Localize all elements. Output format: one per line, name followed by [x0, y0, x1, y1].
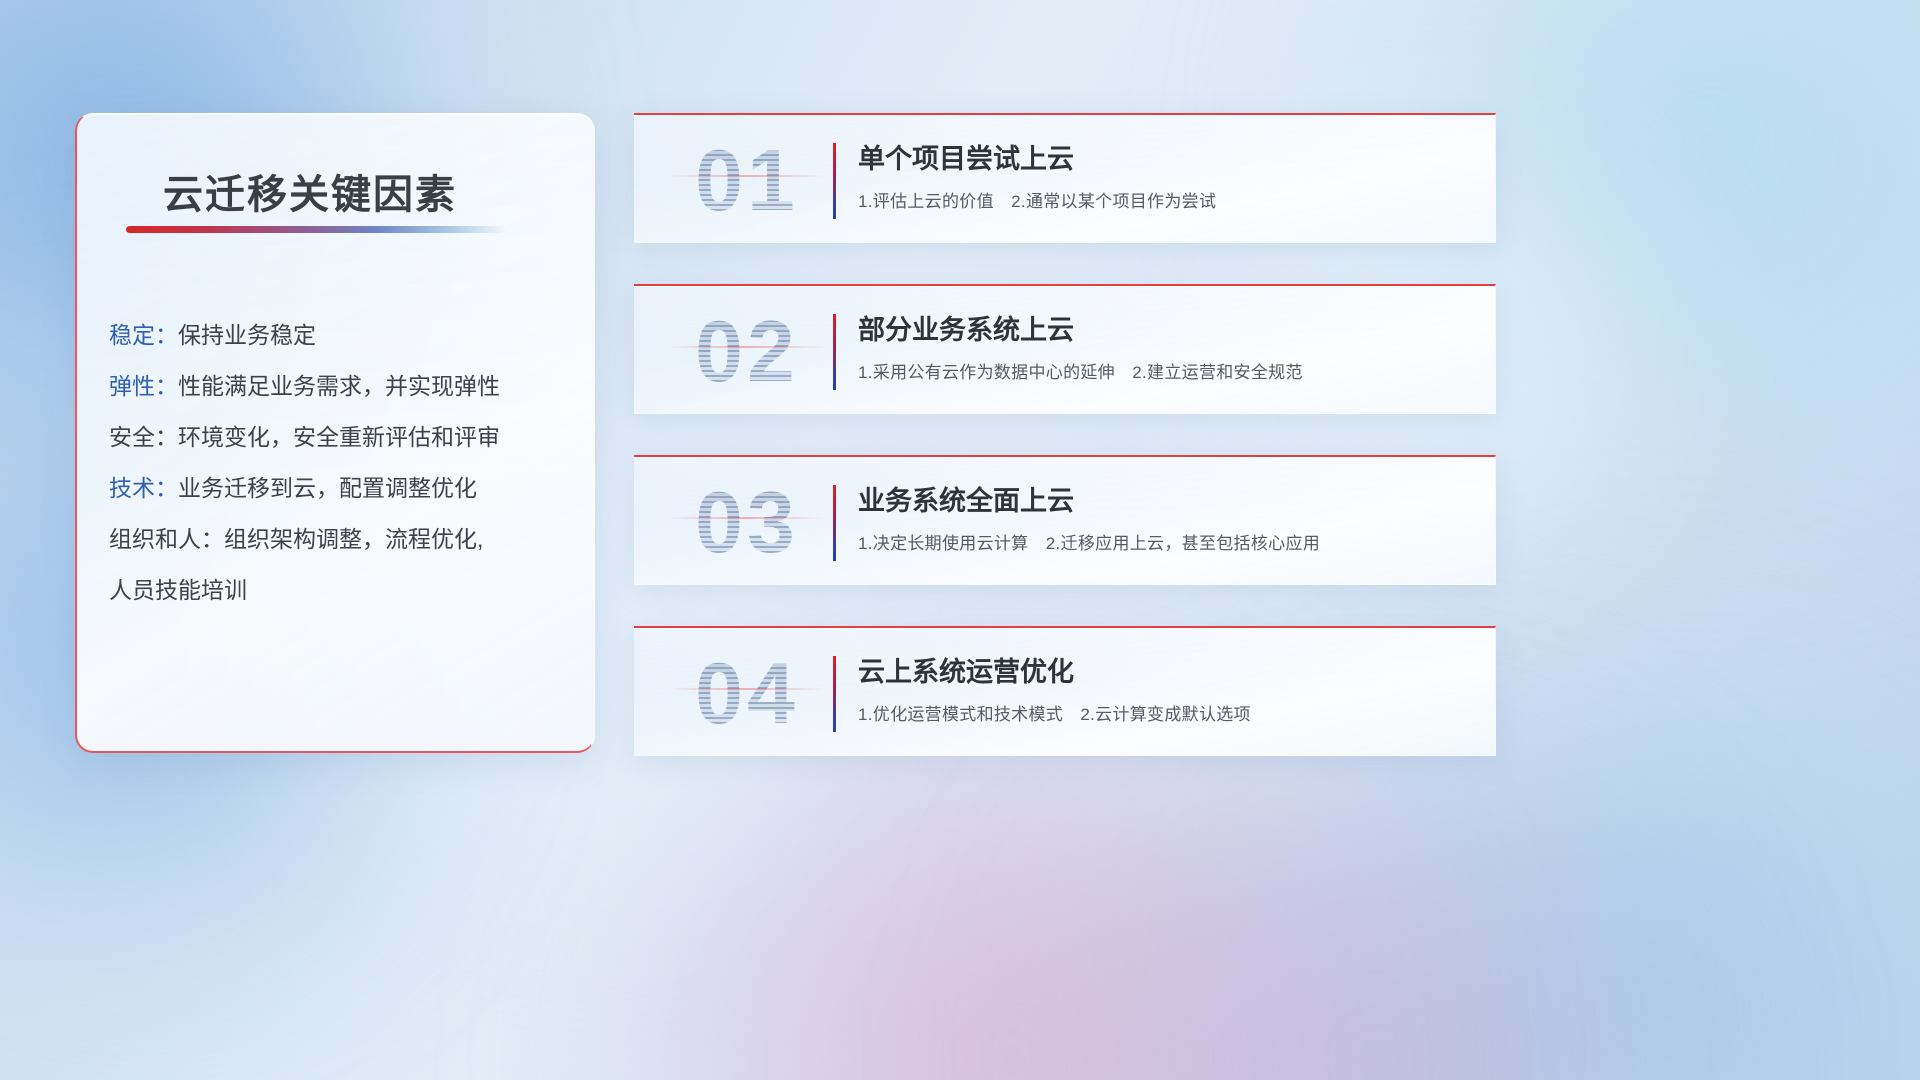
slide-stage: 云迁移关键因素 稳定：保持业务稳定 弹性：性能满足业务需求，并实现弹性 安全：环…: [0, 0, 1920, 1080]
factor-label: 安全：: [109, 424, 178, 450]
title-underline-rule: [126, 226, 506, 233]
page-title: 云迁移关键因素: [163, 162, 457, 220]
factor-item: 组织和人：组织架构调整，流程优化,: [109, 514, 576, 565]
stage-subtitle: 1.采用公有云作为数据中心的延伸 2.建立运营和安全规范: [858, 358, 1303, 383]
stage-subtitle: 1.决定长期使用云计算 2.迁移应用上云，甚至包括核心应用: [858, 529, 1320, 554]
factor-item: 稳定：保持业务稳定: [109, 310, 576, 361]
stage-number-02: 02: [662, 300, 832, 404]
factor-item: 技术：业务迁移到云，配置调整优化: [109, 463, 576, 514]
stage-divider-bar: [833, 656, 836, 732]
stage-title: 业务系统全面上云: [858, 479, 1074, 518]
factor-item: 弹性：性能满足业务需求，并实现弹性: [109, 361, 576, 412]
stage-number-03: 03: [662, 471, 832, 575]
factor-item: 安全：环境变化，安全重新评估和评审: [109, 412, 576, 463]
factor-text: 环境变化，安全重新评估和评审: [178, 424, 500, 450]
factor-item-continuation: 人员技能培训: [109, 565, 576, 616]
factor-text: 性能满足业务需求，并实现弹性: [178, 373, 500, 399]
factor-label: 组织和人：: [109, 526, 224, 552]
factor-text: 保持业务稳定: [178, 322, 316, 348]
factor-text: 业务迁移到云，配置调整优化: [178, 475, 477, 501]
stage-divider-bar: [833, 143, 836, 219]
stage-divider-bar: [833, 485, 836, 561]
stage-title: 部分业务系统上云: [858, 308, 1074, 347]
factor-text: 人员技能培训: [109, 577, 247, 603]
stage-number-01: 01: [662, 129, 832, 233]
stage-title: 单个项目尝试上云: [858, 137, 1074, 176]
stage-title: 云上系统运营优化: [858, 650, 1074, 689]
stage-card-04[interactable]: 04 云上系统运营优化 1.优化运营模式和技术模式 2.云计算变成默认选项: [634, 626, 1496, 756]
factor-text: 组织架构调整，流程优化,: [224, 526, 483, 552]
key-factors-panel: 云迁移关键因素 稳定：保持业务稳定 弹性：性能满足业务需求，并实现弹性 安全：环…: [75, 113, 595, 753]
factor-label: 稳定：: [109, 322, 178, 348]
stage-card-03[interactable]: 03 业务系统全面上云 1.决定长期使用云计算 2.迁移应用上云，甚至包括核心应…: [634, 455, 1496, 585]
stage-divider-bar: [833, 314, 836, 390]
stage-card-list: 01 单个项目尝试上云 1.评估上云的价值 2.通常以某个项目作为尝试 02 部…: [634, 113, 1496, 756]
factor-label: 技术：: [109, 475, 178, 501]
stage-card-01[interactable]: 01 单个项目尝试上云 1.评估上云的价值 2.通常以某个项目作为尝试: [634, 113, 1496, 243]
stage-card-02[interactable]: 02 部分业务系统上云 1.采用公有云作为数据中心的延伸 2.建立运营和安全规范: [634, 284, 1496, 414]
stage-number-04: 04: [662, 642, 832, 746]
stage-subtitle: 1.优化运营模式和技术模式 2.云计算变成默认选项: [858, 700, 1251, 725]
factor-list: 稳定：保持业务稳定 弹性：性能满足业务需求，并实现弹性 安全：环境变化，安全重新…: [109, 310, 576, 616]
stage-subtitle: 1.评估上云的价值 2.通常以某个项目作为尝试: [858, 187, 1216, 212]
factor-label: 弹性：: [109, 373, 178, 399]
